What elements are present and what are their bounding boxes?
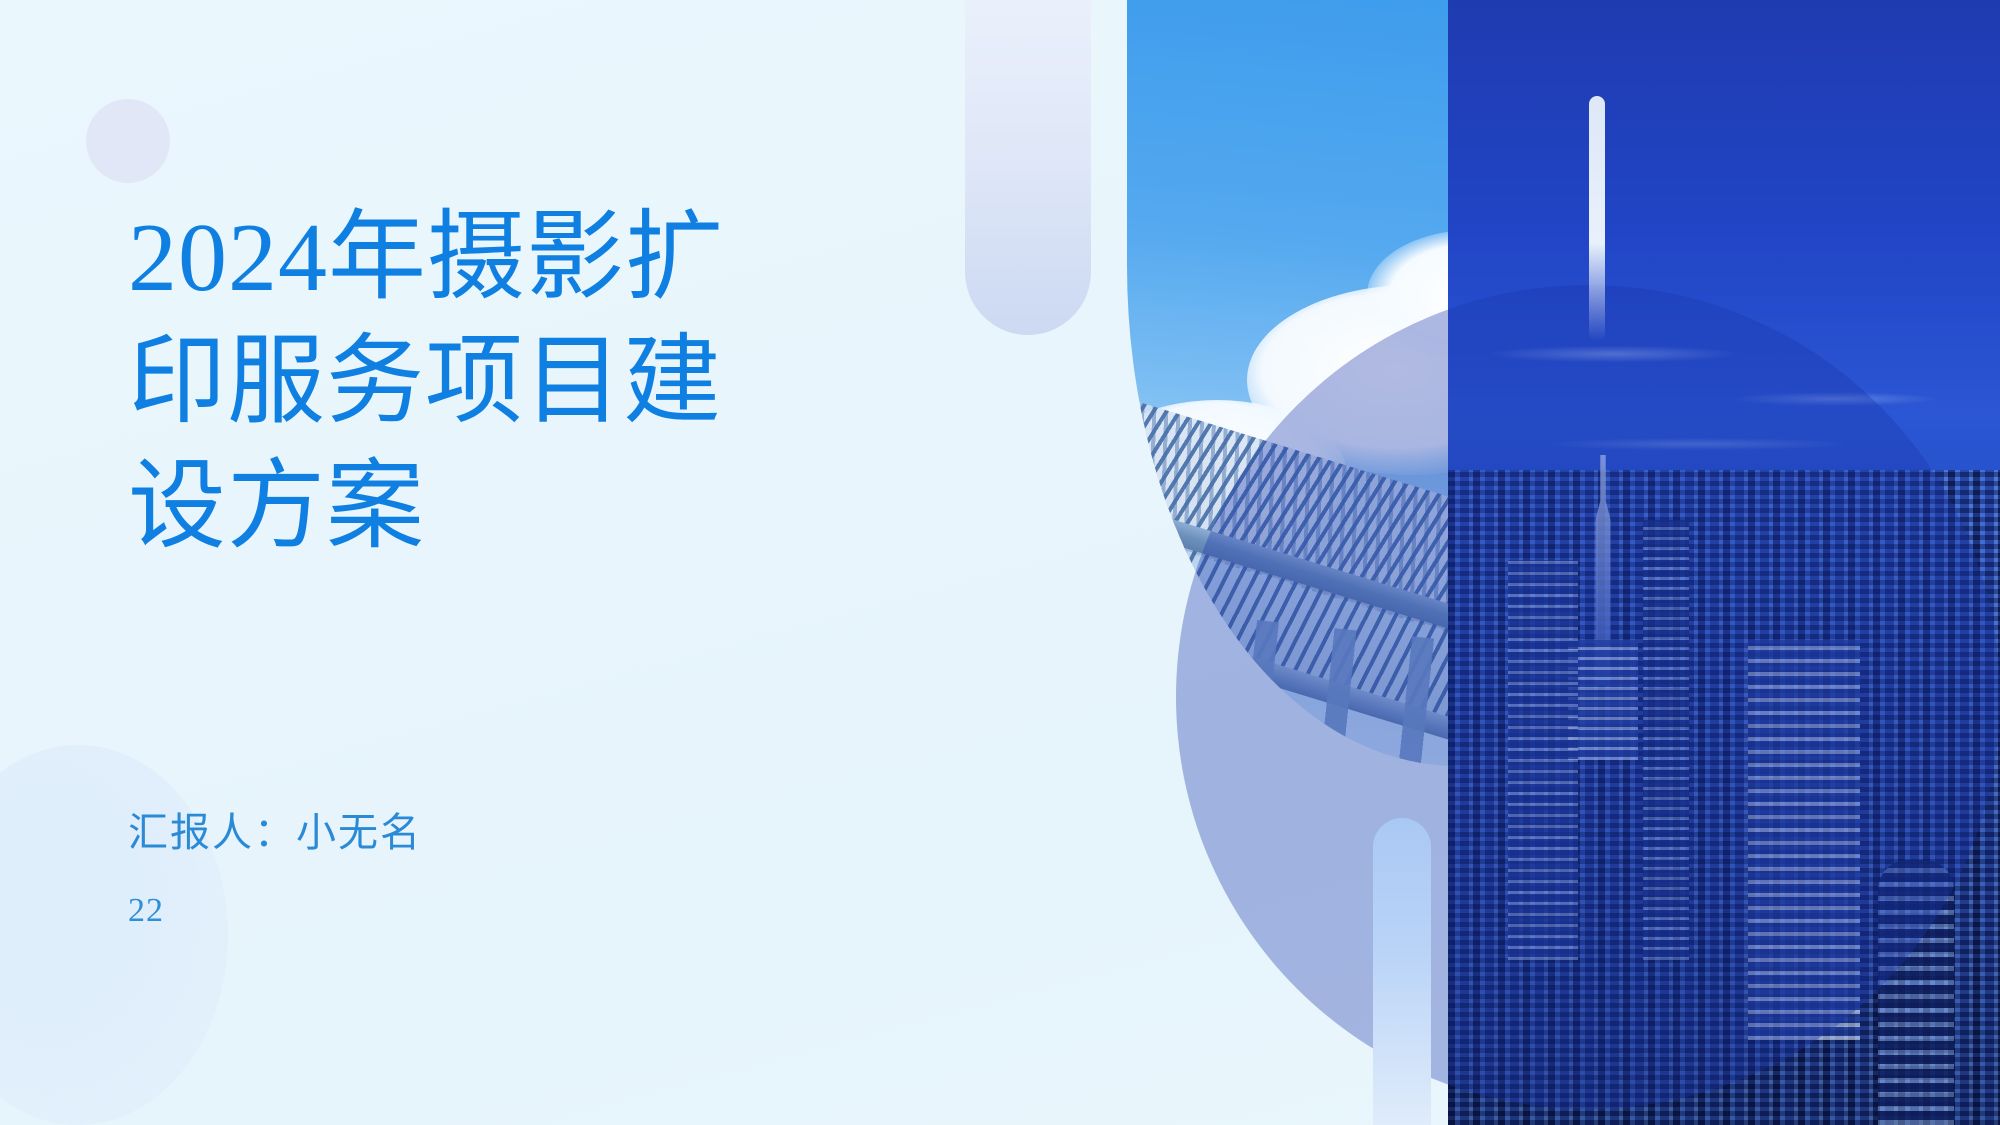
city-building [1643,520,1689,960]
subtitle-block: 汇报人：小无名 22 [128,800,422,930]
decorative-pill-bottom [1373,818,1431,1125]
decorative-circle-top-left [86,99,170,183]
slide-title: 2024年摄影扩印服务项目建设方案 [128,196,768,569]
presentation-slide: 2024年摄影扩印服务项目建设方案 汇报人：小无名 22 [0,0,2000,1125]
city-building [1748,640,1860,1040]
date-label: 22 [128,892,422,930]
landmark-tower-base [1568,640,1638,760]
title-block: 2024年摄影扩印服务项目建设方案 [128,196,768,569]
cloud-wisps [1448,300,2000,480]
city-building [1878,860,1954,1125]
city-building [1508,560,1578,960]
presenter-label: 汇报人：小无名 [128,800,422,858]
city-photo [1448,0,2000,1125]
decorative-pill-top [965,0,1091,335]
